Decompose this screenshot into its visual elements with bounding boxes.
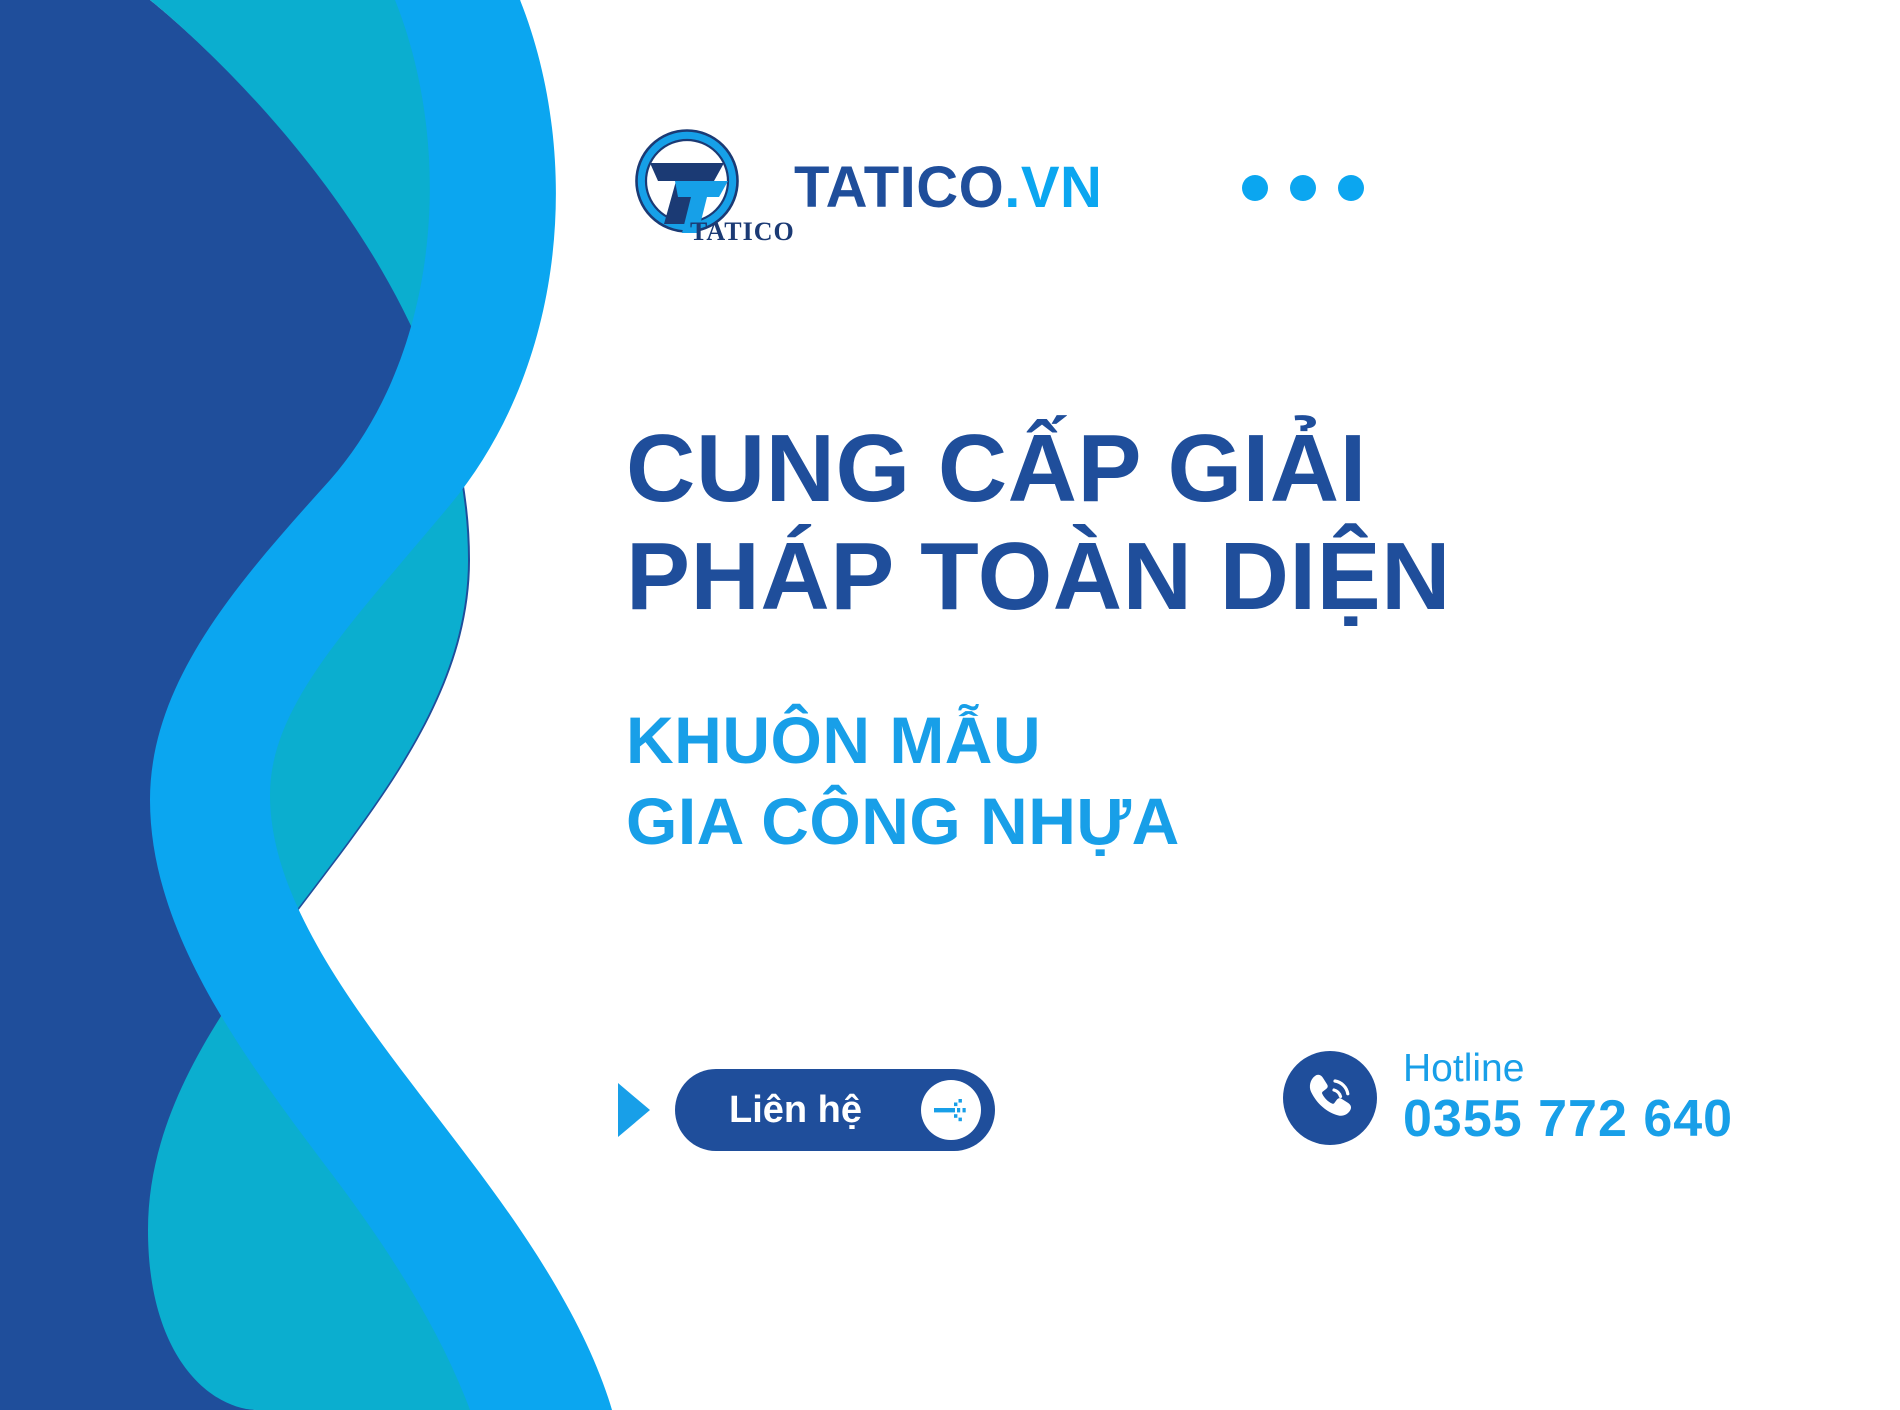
hotline-number[interactable]: 0355 772 640 [1403, 1090, 1733, 1148]
promo-banner: TATICO TATICO.VN CUNG CẤP GIẢI PHÁP TOÀN… [0, 0, 1900, 1410]
wave-navy-shape [0, 0, 470, 1410]
hotline-block[interactable]: Hotline 0355 772 640 [1283, 1048, 1733, 1148]
contact-button[interactable]: Liên hệ [675, 1069, 995, 1151]
play-triangle-icon [618, 1083, 650, 1137]
headline-line-2: PHÁP TOÀN DIỆN [626, 523, 1686, 631]
hotline-label: Hotline [1403, 1048, 1733, 1090]
wordmark-suffix: .VN [1004, 155, 1102, 220]
headline-line-1: CUNG CẤP GIẢI [626, 415, 1686, 523]
headline-block: CUNG CẤP GIẢI PHÁP TOÀN DIỆN [626, 415, 1686, 630]
wordmark-main: TATICO [794, 155, 1004, 220]
phone-call-icon [1283, 1051, 1377, 1145]
logo-caption: TATICO [690, 217, 795, 247]
wave-cyan-shape [150, 0, 612, 1410]
subheadline-line-1: KHUÔN MẪU [626, 700, 1686, 781]
banner-header: TATICO TATICO.VN [628, 128, 1364, 248]
dot-2 [1290, 175, 1316, 201]
arrow-right-icon [921, 1080, 981, 1140]
hotline-text: Hotline 0355 772 640 [1403, 1048, 1733, 1148]
contact-button-label: Liên hệ [729, 1089, 862, 1132]
wave-teal-shape [148, 0, 585, 1410]
s-curve-wave-shape [0, 0, 700, 1410]
cta-row: Liên hệ [618, 1055, 995, 1165]
tatico-circle-t-logo[interactable]: TATICO [628, 125, 754, 251]
dot-3 [1338, 175, 1364, 201]
dot-1 [1242, 175, 1268, 201]
wordmark[interactable]: TATICO.VN [794, 159, 1102, 217]
subheadline-block: KHUÔN MẪU GIA CÔNG NHỰA [626, 700, 1686, 861]
three-dots-icon[interactable] [1242, 175, 1364, 201]
subheadline-line-2: GIA CÔNG NHỰA [626, 781, 1686, 862]
